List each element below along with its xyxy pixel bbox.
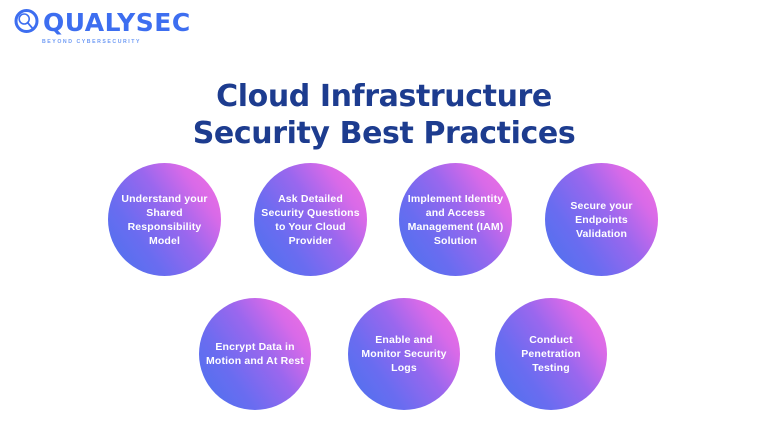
practice-bubble-label: Secure your Endpoints Validation [545,199,658,241]
practice-bubble-encrypt-data[interactable]: Encrypt Data in Motion and At Rest [199,298,311,410]
practice-bubble-label: Implement Identity and Access Management… [399,192,512,248]
practice-bubble-security-logs[interactable]: Enable and Monitor Security Logs [348,298,460,410]
practice-bubble-shared-responsibility[interactable]: Understand your Shared Responsibility Mo… [108,163,221,276]
logo-mark-row: QUALYSEC [12,8,192,38]
practice-bubble-label: Enable and Monitor Security Logs [348,333,460,375]
practice-bubble-ask-security-questions[interactable]: Ask Detailed Security Questions to Your … [254,163,367,276]
qualysec-logo: QUALYSEC BEYOND CYBERSECURITY [12,8,192,52]
practice-bubble-label: Conduct Penetration Testing [495,333,607,375]
page-title-line-2: Security Best Practices [0,115,768,152]
practice-bubble-penetration-testing[interactable]: Conduct Penetration Testing [495,298,607,410]
brand-tagline: BEYOND CYBERSECURITY [42,39,192,45]
qualysec-q-magnifier-icon [12,8,42,38]
practice-bubble-iam-solution[interactable]: Implement Identity and Access Management… [399,163,512,276]
practice-bubble-label: Encrypt Data in Motion and At Rest [199,340,311,368]
page-title: Cloud Infrastructure Security Best Pract… [0,78,768,152]
page-title-line-1: Cloud Infrastructure [0,78,768,115]
brand-name: QUALYSEC [43,8,191,38]
practice-bubble-secure-endpoints[interactable]: Secure your Endpoints Validation [545,163,658,276]
practice-bubble-label: Ask Detailed Security Questions to Your … [254,192,367,248]
practice-bubble-label: Understand your Shared Responsibility Mo… [108,192,221,248]
